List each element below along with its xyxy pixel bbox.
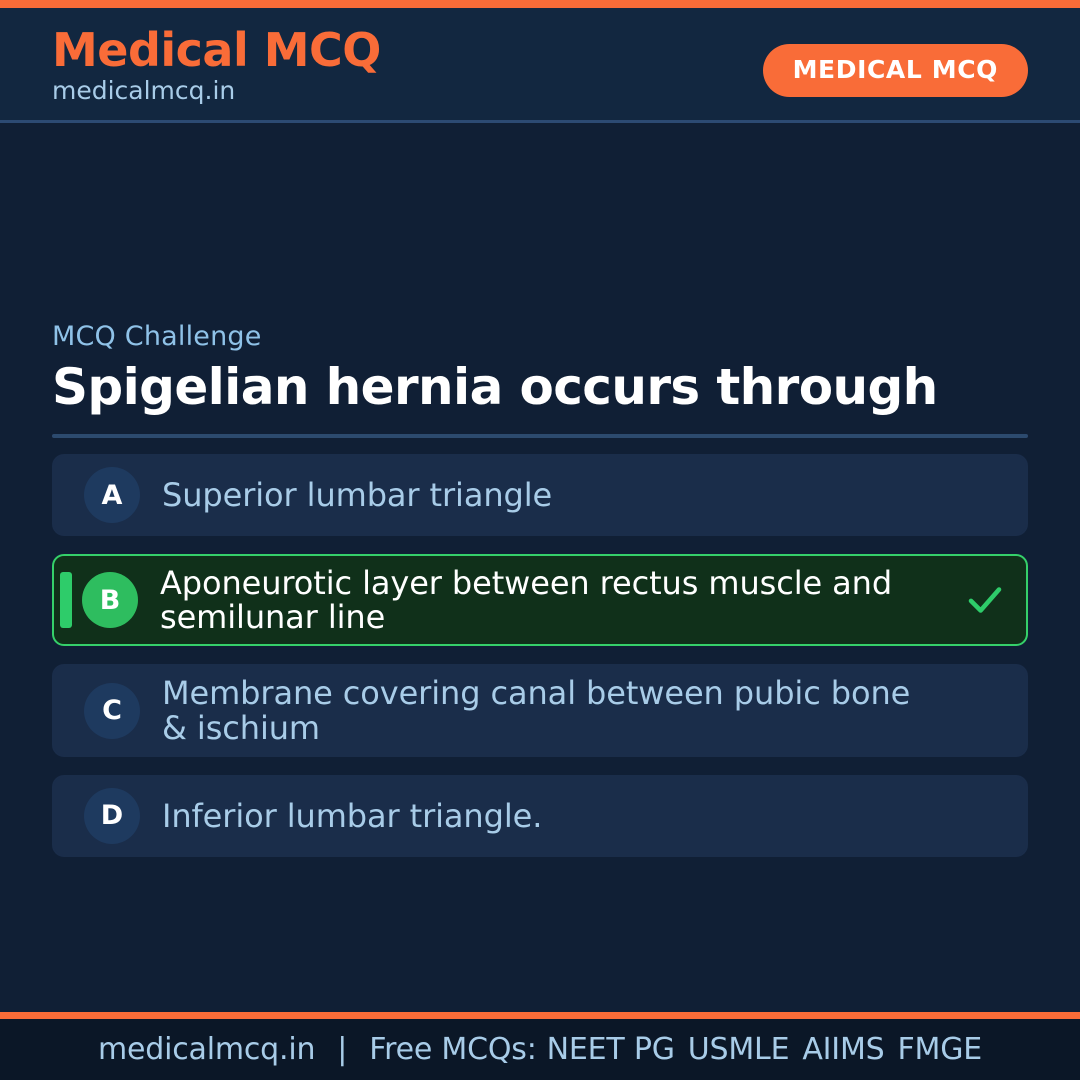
footer-exam-tag: USMLE [688,1032,790,1067]
brand-block: Medical MCQ medicalmcq.in [52,26,381,104]
option-letter-badge: D [84,788,140,844]
top-accent-bar [0,0,1080,8]
option-text: Inferior lumbar triangle. [162,799,914,833]
option-text: Membrane covering canal between pubic bo… [162,676,914,744]
option-text: Aponeurotic layer between rectus muscle … [160,566,950,634]
footer-exam-tag: NEET PG [547,1032,675,1067]
footer-exam-tag: FMGE [897,1032,982,1067]
option-row[interactable]: D Inferior lumbar triangle. [52,775,1028,857]
site-header: Medical MCQ medicalmcq.in MEDICAL MCQ [0,8,1080,123]
brand-subtitle: medicalmcq.in [52,77,381,105]
check-icon [964,579,1006,621]
option-row[interactable]: C Membrane covering canal between pubic … [52,664,1028,756]
footer-label: Free MCQs: [369,1032,536,1067]
option-row[interactable]: A Superior lumbar triangle [52,454,1028,536]
main-stage: MCQ Challenge Spigelian hernia occurs th… [0,126,1080,1012]
site-footer: medicalmcq.in | Free MCQs: NEET PG USMLE… [0,1019,1080,1080]
header-brand-pill: MEDICAL MCQ [763,44,1028,97]
brand-title: Medical MCQ [52,26,381,75]
correct-accent-bar [60,572,72,628]
option-text: Superior lumbar triangle [162,478,914,512]
option-row[interactable]: B Aponeurotic layer between rectus muscl… [52,554,1028,646]
footer-accent-bar [0,1012,1080,1019]
question-text: Spigelian hernia occurs through [52,359,1028,416]
question-divider [52,434,1028,438]
footer-content: medicalmcq.in | Free MCQs: NEET PG USMLE… [98,1032,982,1067]
footer-exam-tag: AIIMS [802,1032,884,1067]
option-letter-badge: C [84,683,140,739]
footer-separator: | [337,1032,347,1067]
option-letter-badge: B [82,572,138,628]
question-block: MCQ Challenge Spigelian hernia occurs th… [52,321,1028,438]
options-list: A Superior lumbar triangle B Aponeurotic… [52,454,1028,857]
option-letter-badge: A [84,467,140,523]
eyebrow-label: MCQ Challenge [52,321,1028,353]
footer-site-link[interactable]: medicalmcq.in [98,1032,315,1067]
